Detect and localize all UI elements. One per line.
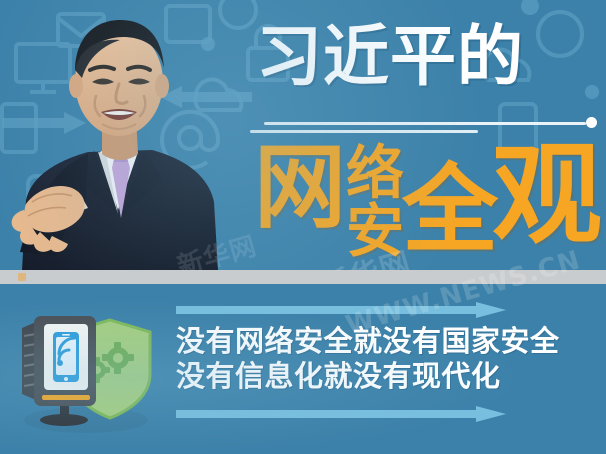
security-illustration [14,296,164,436]
illustration-svg [14,296,164,436]
smartphone-wifi-icon [53,332,79,382]
poster-root: 习近平的 网 络 安 全 观 新华网 新华网 [0,0,606,454]
headline-char-wang: 网 [254,142,346,234]
top-panel: 习近平的 网 络 安 全 观 新华网 新华网 [0,0,606,270]
slogan-block: 没有网络安全就没有国家安全 没有信息化就没有现代化 [176,324,596,394]
bottom-panel: 没有网络安全就没有国家安全 没有信息化就没有现代化 新华网 [0,284,606,454]
headline-char-luo: 络 [346,144,404,202]
portrait-svg [2,4,234,270]
headline-char-an: 安 [346,202,404,260]
divider-marker [18,273,26,281]
headline-line1: 习近平的 [256,22,524,92]
arrow-bottom-svg [176,406,506,422]
headline-char-guan: 观 [492,140,602,250]
portrait-xi-jinping [2,4,234,270]
circle-icon [521,0,539,15]
rule-line-top [264,122,586,125]
arrow-right-icon-top [176,302,506,318]
arrow-top-svg [176,302,506,318]
arrow-right-icon-bottom [176,406,506,422]
section-divider [0,270,606,284]
rule-end-dot [586,117,597,128]
headline-block: 习近平的 网 络 安 全 观 [250,22,602,270]
slogan-line2: 没有信息化就没有现代化 [176,359,596,394]
headline-char-quan: 全 [402,162,498,258]
headline-line2: 网 络 安 全 观 [252,140,604,270]
rule-line-bottom [250,130,478,133]
slogan-line1: 没有网络安全就没有国家安全 [176,324,596,359]
